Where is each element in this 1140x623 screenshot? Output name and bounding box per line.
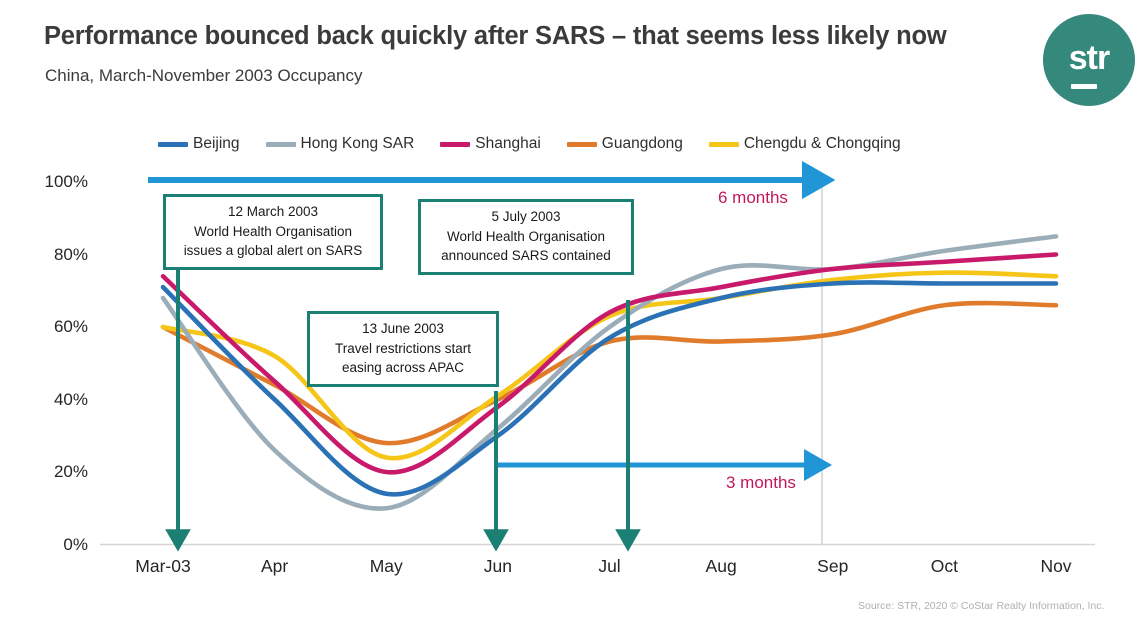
six-months-label: 6 months xyxy=(718,188,788,208)
chart-page: Performance bounced back quickly after S… xyxy=(0,0,1140,623)
annotation-line: World Health Organisation xyxy=(429,227,623,247)
x-axis-tick-label: May xyxy=(370,556,403,577)
x-axis-tick-label: Jul xyxy=(598,556,620,577)
x-axis-tick-label: Jun xyxy=(484,556,512,577)
annotation-line: World Health Organisation xyxy=(174,222,372,242)
chart-series-layer xyxy=(163,236,1056,508)
x-axis-tick-label: Nov xyxy=(1040,556,1071,577)
y-axis-tick-label: 60% xyxy=(18,317,88,337)
annotation-line: 5 July 2003 xyxy=(429,207,623,227)
x-axis-tick-label: Sep xyxy=(817,556,848,577)
y-axis-tick-label: 0% xyxy=(18,535,88,555)
annotation-travel-restrictions: 13 June 2003Travel restrictions starteas… xyxy=(307,311,499,387)
y-axis-tick-label: 20% xyxy=(18,462,88,482)
series-line-shanghai xyxy=(163,255,1056,473)
x-axis-tick-label: Oct xyxy=(931,556,958,577)
series-line-chengdu-chongqing xyxy=(163,273,1056,459)
annotation-line: announced SARS contained xyxy=(429,246,623,266)
annotation-who-alert: 12 March 2003World Health Organisationis… xyxy=(163,194,383,270)
x-axis-tick-label: Mar-03 xyxy=(135,556,190,577)
annotation-line: 13 June 2003 xyxy=(318,319,488,339)
three-months-label: 3 months xyxy=(726,473,796,493)
x-axis-tick-label: Apr xyxy=(261,556,288,577)
y-axis-tick-label: 80% xyxy=(18,245,88,265)
y-axis-tick-label: 40% xyxy=(18,390,88,410)
annotation-line: Travel restrictions start xyxy=(318,339,488,359)
annotation-sars-contained: 5 July 2003World Health Organisationanno… xyxy=(418,199,634,275)
x-axis-tick-label: Aug xyxy=(706,556,737,577)
source-note: Source: STR, 2020 © CoStar Realty Inform… xyxy=(858,600,1104,612)
annotation-line: issues a global alert on SARS xyxy=(174,241,372,261)
chart-plot-area xyxy=(0,0,1140,623)
y-axis-tick-label: 100% xyxy=(18,172,88,192)
annotation-line: 12 March 2003 xyxy=(174,202,372,222)
annotation-line: easing across APAC xyxy=(318,358,488,378)
